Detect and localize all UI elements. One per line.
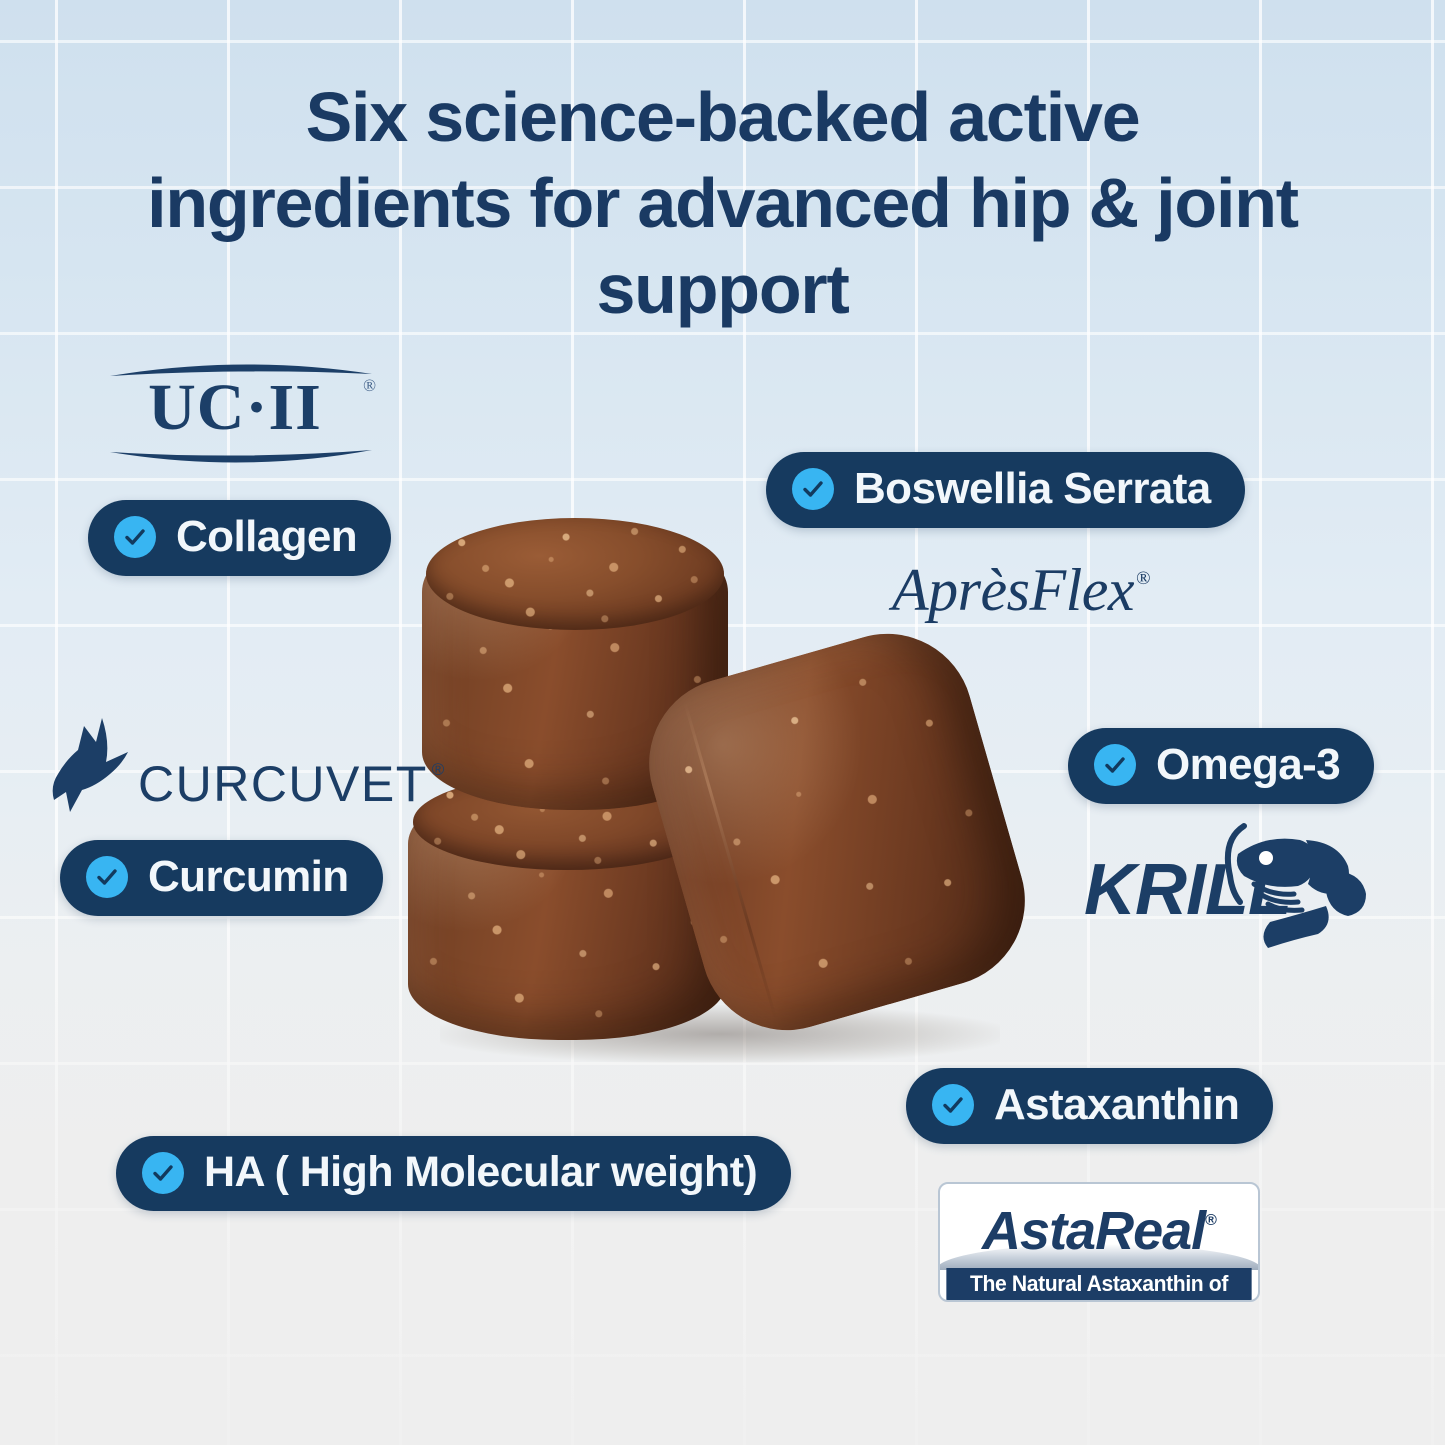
apresflex-wordmark: AprèsFlex [892,557,1134,623]
ingredient-label: Boswellia Serrata [854,467,1211,511]
ingredient-pill-curcumin[interactable]: Curcumin [60,840,383,916]
ingredient-label: HA ( High Molecular weight) [204,1151,757,1194]
ingredient-label: Omega-3 [1156,743,1340,787]
ingredient-pill-collagen[interactable]: Collagen [88,500,391,576]
check-circle-icon [86,856,128,898]
apresflex-trademark: ® [1136,568,1150,589]
astareal-trademark: ® [1205,1212,1216,1229]
chew-face-texture [426,518,724,630]
ingredient-pill-omega-3[interactable]: Omega-3 [1068,728,1374,804]
ucii-logo: UC·II ® [104,356,384,468]
ucii-wordmark: UC·II [104,369,366,447]
infographic-canvas: Six science-backed active ingredients fo… [0,0,1445,1445]
apresflex-logo: AprèsFlex® [892,556,1150,625]
chew-top-face [426,518,724,630]
astareal-name: AstaReal [982,1201,1205,1261]
check-circle-icon [1094,744,1136,786]
astareal-tagline: The Natural Astaxanthin of Choice [946,1268,1251,1300]
ingredient-label: Curcumin [148,855,349,899]
krill-logo: KRILL [1084,818,1384,950]
curcuvet-logo: CURCUVET® [44,716,446,816]
ucii-trademark: ® [363,376,376,396]
check-circle-icon [142,1152,184,1194]
dog-head-icon [44,716,152,816]
curcuvet-name: CURCUVET [138,756,428,812]
check-circle-icon [932,1084,974,1126]
ingredient-pill-boswellia[interactable]: Boswellia Serrata [766,452,1245,528]
krill-shrimp-icon [1214,818,1384,950]
check-circle-icon [792,468,834,510]
astareal-logo: AstaReal® The Natural Astaxanthin of Cho… [938,1182,1260,1302]
ingredient-label: Collagen [176,515,357,559]
check-circle-icon [114,516,156,558]
curcuvet-wordmark: CURCUVET® [138,744,446,810]
curcuvet-trademark: ® [432,760,446,779]
page-title: Six science-backed active ingredients fo… [0,74,1445,332]
ingredient-pill-astaxanthin[interactable]: Astaxanthin [906,1068,1273,1144]
astareal-wordmark: AstaReal® [940,1190,1258,1262]
ingredient-label: Astaxanthin [994,1083,1239,1127]
ingredient-pill-ha[interactable]: HA ( High Molecular weight) [116,1136,791,1211]
